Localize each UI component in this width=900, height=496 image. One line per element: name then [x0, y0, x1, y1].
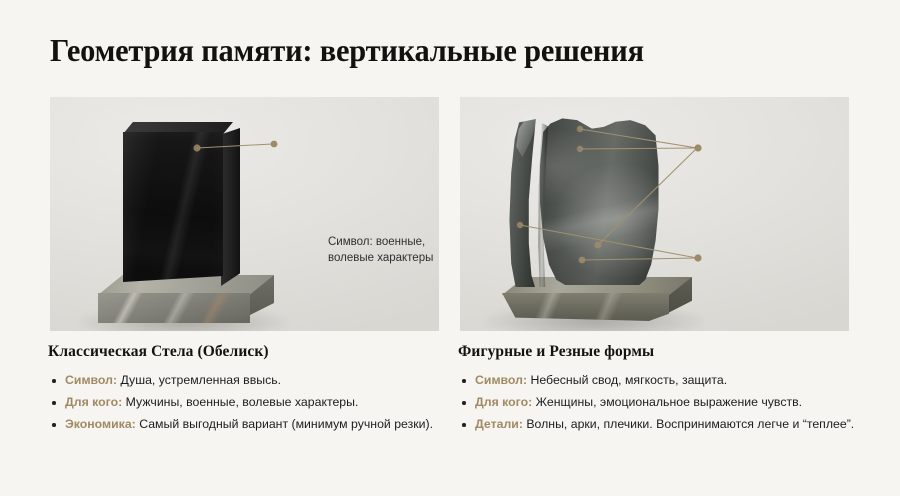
bullet-label: Для кого:	[65, 395, 122, 409]
bullet-text: Душа, устремленная ввысь.	[117, 373, 281, 387]
list-item: Символ: Небесный свод, мягкость, защита.	[458, 372, 858, 389]
column-heading: Фигурные и Резные формы	[458, 343, 858, 361]
column-heading: Классическая Стела (Обелиск)	[48, 343, 440, 361]
bullet-text: Волны, арки, плечики. Воспринимаются лег…	[523, 417, 854, 431]
text-column-figured: Фигурные и Резные формы Символ: Небесный…	[458, 343, 858, 438]
bullet-text: Женщины, эмоциональное выражение чувств.	[532, 395, 802, 409]
image-panel-classic: Символ: военные, волевые характеры	[50, 97, 439, 331]
page-title: Геометрия памяти: вертикальные решения	[50, 32, 810, 69]
monument-slab-face	[123, 132, 223, 282]
list-item: Экономика: Самый выгодный вариант (миним…	[48, 416, 440, 433]
list-item: Детали: Волны, арки, плечики. Воспринима…	[458, 416, 858, 433]
text-column-classic: Классическая Стела (Обелиск) Символ: Душ…	[48, 343, 440, 438]
bullet-text: Самый выгодный вариант (минимум ручной р…	[136, 417, 433, 431]
list-item: Символ: Душа, устремленная ввысь.	[48, 372, 440, 389]
bullet-label: Для кого:	[475, 395, 532, 409]
bullet-text: Мужчины, военные, волевые характеры.	[122, 395, 358, 409]
bullet-label: Символ:	[475, 373, 527, 387]
list-item: Для кого: Мужчины, военные, волевые хара…	[48, 394, 440, 411]
bullet-text: Небесный свод, мягкость, защита.	[527, 373, 727, 387]
slide-root: Геометрия памяти: вертикальные решения С…	[0, 0, 900, 496]
monument-base-front	[502, 293, 669, 321]
bullet-label: Детали:	[475, 417, 523, 431]
image-panel-figured: Символ: мягкость защита Детали: Волны, а…	[460, 97, 849, 331]
monument-slab-side	[221, 128, 240, 286]
monument-base-front	[98, 293, 250, 323]
list-item: Для кого: Женщины, эмоциональное выражен…	[458, 394, 858, 411]
callout-label-symbol: Символ: военные, волевые характеры	[328, 234, 433, 266]
bullet-list: Символ: Небесный свод, мягкость, защита.…	[458, 372, 858, 433]
bullet-label: Символ:	[65, 373, 117, 387]
bullet-label: Экономика:	[65, 417, 136, 431]
bullet-list: Символ: Душа, устремленная ввысь. Для ко…	[48, 372, 440, 433]
